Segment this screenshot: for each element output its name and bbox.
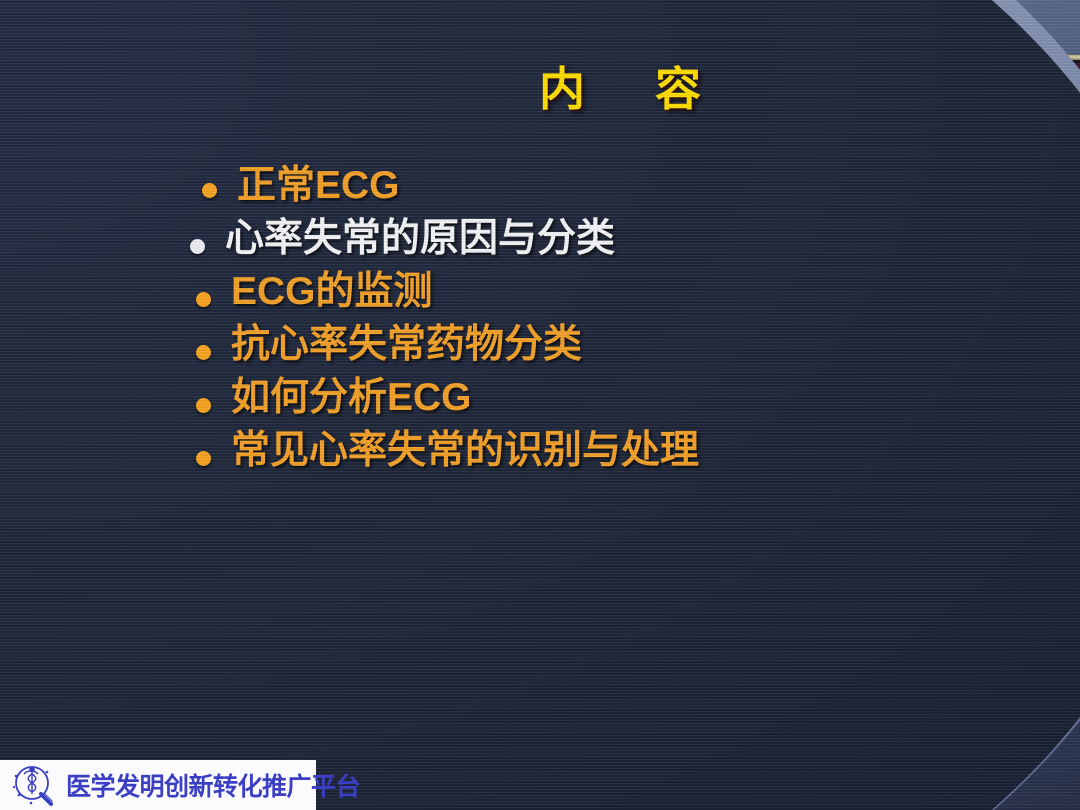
list-item[interactable]: 常见心率失常的识别与处理 [196,431,1050,470]
bullet-dot-icon [196,345,211,360]
watermark-label: 医学发明创新转化推广平台 [66,767,360,803]
list-item-label: ECG的监测 [231,272,433,311]
bullet-dot-icon [196,292,211,307]
title-banner: 内 容 [172,55,1080,121]
presentation-slide: 内 容 正常ECG 心率失常的原因与分类 ECG的监测 抗心率失常药物分类 如何… [0,0,1080,810]
list-item-label: 抗心率失常药物分类 [231,325,582,364]
list-item[interactable]: 心率失常的原因与分类 [190,219,1050,258]
list-item-label: 心率失常的原因与分类 [225,219,615,258]
bullet-dot-icon [190,239,205,254]
list-item-label: 正常ECG [237,166,400,205]
watermark-badge: 医学发明创新转化推广平台 [0,760,316,810]
caduceus-magnifier-icon [10,762,60,808]
bullet-dot-icon [202,183,217,198]
bullet-dot-icon [196,451,211,466]
list-item[interactable]: 抗心率失常药物分类 [196,325,1050,364]
bullet-dot-icon [196,398,211,413]
slide-title: 内 容 [172,55,1080,121]
list-item-label: 常见心率失常的识别与处理 [231,431,699,470]
list-item[interactable]: ECG的监测 [196,272,1050,311]
bullet-list: 正常ECG 心率失常的原因与分类 ECG的监测 抗心率失常药物分类 如何分析EC… [190,166,1050,472]
list-item-label: 如何分析ECG [231,378,472,417]
list-item[interactable]: 正常ECG [202,166,1050,205]
list-item[interactable]: 如何分析ECG [196,378,1050,417]
